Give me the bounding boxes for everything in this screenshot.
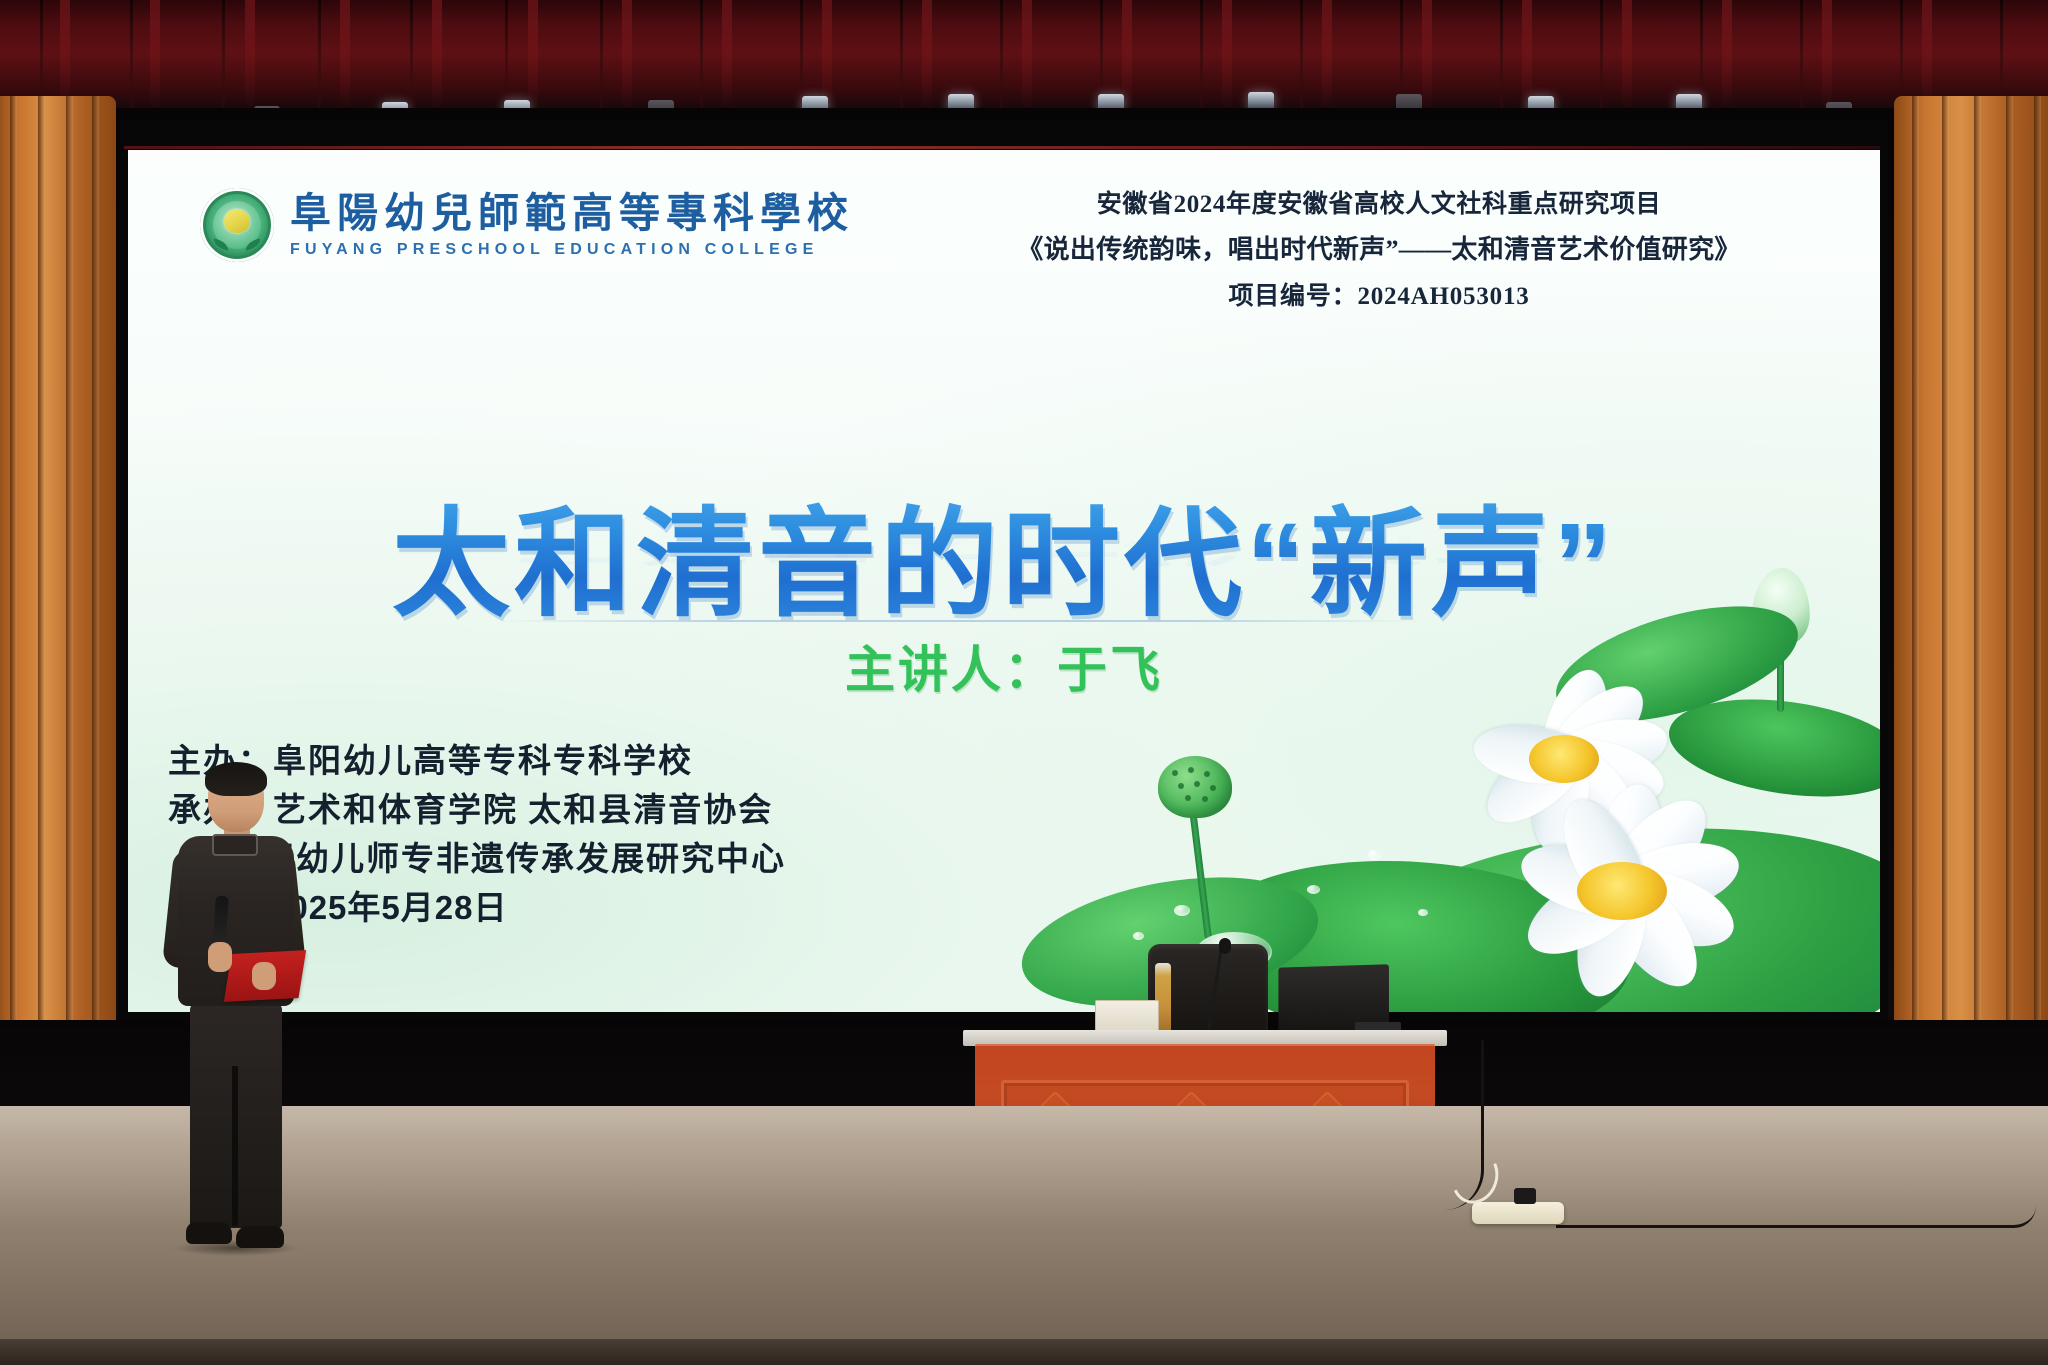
stage-floor (0, 1106, 2048, 1365)
speaker-name-line: 主讲人：于飞 (128, 630, 1880, 702)
water-droplet-icon (1133, 932, 1144, 940)
slide-main-title: 太和清音的时代“新声” (128, 468, 1880, 639)
presenter-hair (205, 762, 267, 796)
project-number-line: 项目编号：2024AH053013 (974, 276, 1784, 312)
fuyang-college-emblem-icon (200, 188, 274, 262)
stage-front-edge (0, 1339, 2048, 1365)
school-name-cn: 阜陽幼兒師範高等專科學校 (290, 193, 854, 234)
presenter-collar (212, 834, 258, 856)
floor-power-strip (1472, 1202, 1564, 1224)
microphone-head-icon (1219, 938, 1231, 954)
school-name-en: FUYANG PRESCHOOL EDUCATION COLLEGE (290, 242, 854, 258)
stage-curtain-right (1894, 96, 2048, 1106)
presenter-hand (252, 962, 276, 990)
auditorium-stage-scene: 阜陽幼兒師範高等專科學校 FUYANG PRESCHOOL EDUCATION … (0, 0, 2048, 1365)
power-cable (1556, 1206, 2036, 1228)
project-title-line: 《说出传统韵味，唱出时代新声”——太和清音艺术价值研究》 (974, 229, 1784, 266)
water-droplet-icon (1368, 850, 1382, 860)
power-plug-icon (1514, 1188, 1536, 1204)
presentation-slide: 阜陽幼兒師範高等專科學校 FUYANG PRESCHOOL EDUCATION … (128, 150, 1880, 1012)
project-info-block: 安徽省2024年度安徽省高校人文社科重点研究项目 《说出传统韵味，唱出时代新声”… (974, 184, 1784, 312)
project-program-line: 安徽省2024年度安徽省高校人文社科重点研究项目 (974, 184, 1784, 220)
water-droplet-icon (1174, 905, 1190, 916)
presenter-speaking (168, 766, 300, 1262)
white-lotus-flower-icon (1482, 796, 1762, 986)
presenter-shoe (236, 1226, 284, 1248)
water-droplet-icon (1418, 909, 1428, 916)
title-underline-rule (500, 620, 1420, 622)
tissue-box (1095, 1000, 1159, 1034)
water-droplet-icon (1307, 885, 1320, 894)
college-logo-block: 阜陽幼兒師範高等專科學校 FUYANG PRESCHOOL EDUCATION … (200, 188, 854, 262)
stage-curtain-left (0, 96, 116, 1106)
led-screen-top-edge (124, 146, 1880, 149)
presenter-shoe (186, 1222, 232, 1244)
presenter-hand (208, 942, 232, 972)
lotus-seed-pod-icon (1158, 756, 1232, 818)
